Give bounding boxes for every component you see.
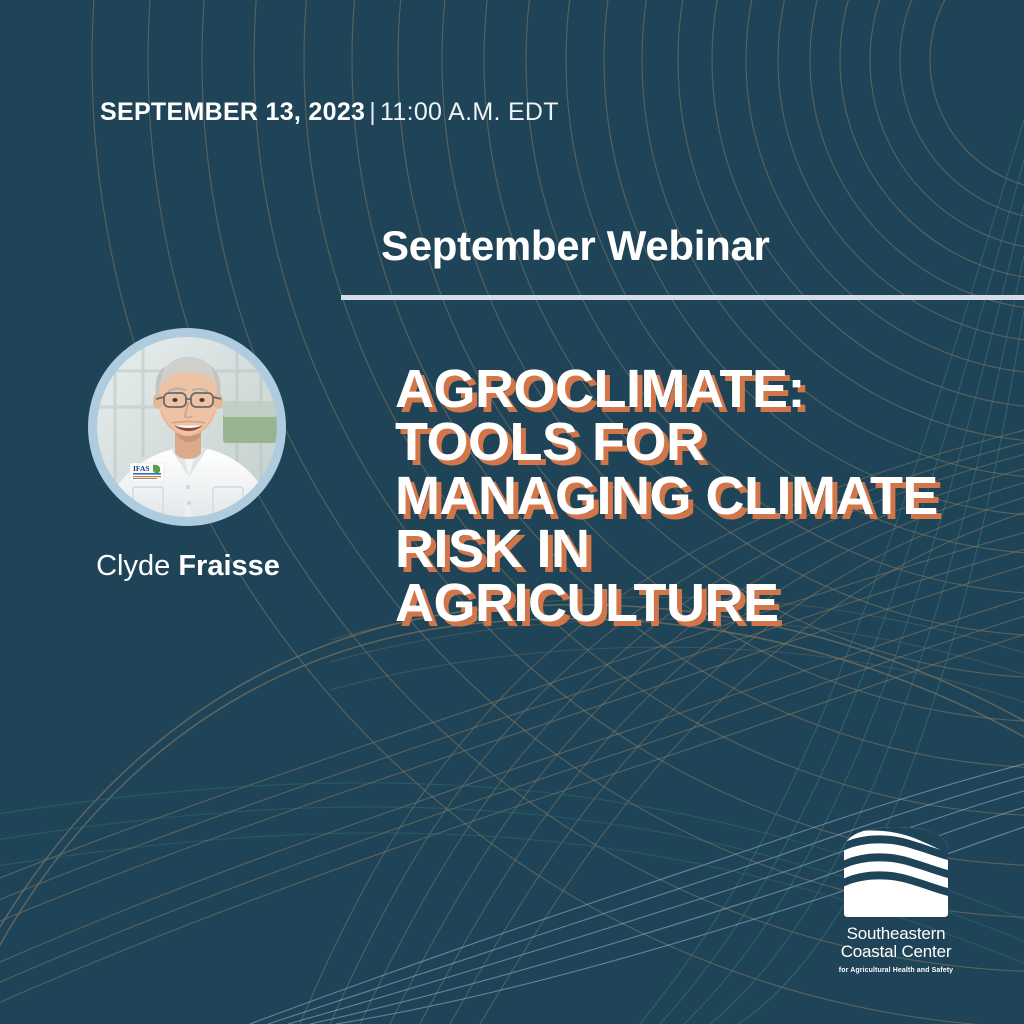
event-date: SEPTEMBER 13, 2023 bbox=[100, 98, 365, 126]
webinar-announcement-poster: SEPTEMBER 13, 2023|11:00 A.M. EDT Septem… bbox=[0, 0, 1024, 1024]
event-datetime: SEPTEMBER 13, 2023|11:00 A.M. EDT bbox=[100, 98, 559, 127]
avatar: IFAS bbox=[97, 337, 277, 517]
speaker-portrait-illustration: IFAS bbox=[97, 337, 277, 517]
organization-tagline: for Agricultural Health and Safety bbox=[826, 967, 966, 974]
organization-logo: Southeastern Coastal Center for Agricult… bbox=[826, 826, 966, 974]
speaker-last-name: Fraisse bbox=[178, 550, 280, 582]
organization-name: Southeastern Coastal Center bbox=[826, 925, 966, 962]
org-name-line-1: Southeastern bbox=[826, 925, 966, 943]
ifas-logo-patch: IFAS bbox=[130, 463, 164, 481]
speaker-first-name: Clyde bbox=[96, 550, 170, 582]
avatar-ring: IFAS bbox=[88, 328, 286, 526]
datetime-separator: | bbox=[365, 98, 380, 126]
event-time: 11:00 A.M. EDT bbox=[380, 98, 559, 126]
coastal-center-wave-mark bbox=[840, 826, 952, 918]
webinar-series-label: September Webinar bbox=[381, 222, 770, 270]
page-title: AGROCLIMATE: TOOLS FOR MANAGING CLIMATE … bbox=[395, 363, 955, 630]
header-divider bbox=[341, 295, 1024, 300]
speaker-block: IFAS bbox=[88, 328, 288, 583]
svg-text:IFAS: IFAS bbox=[133, 464, 150, 473]
org-name-line-2: Coastal Center bbox=[826, 943, 966, 961]
speaker-name: Clyde Fraisse bbox=[88, 550, 288, 583]
